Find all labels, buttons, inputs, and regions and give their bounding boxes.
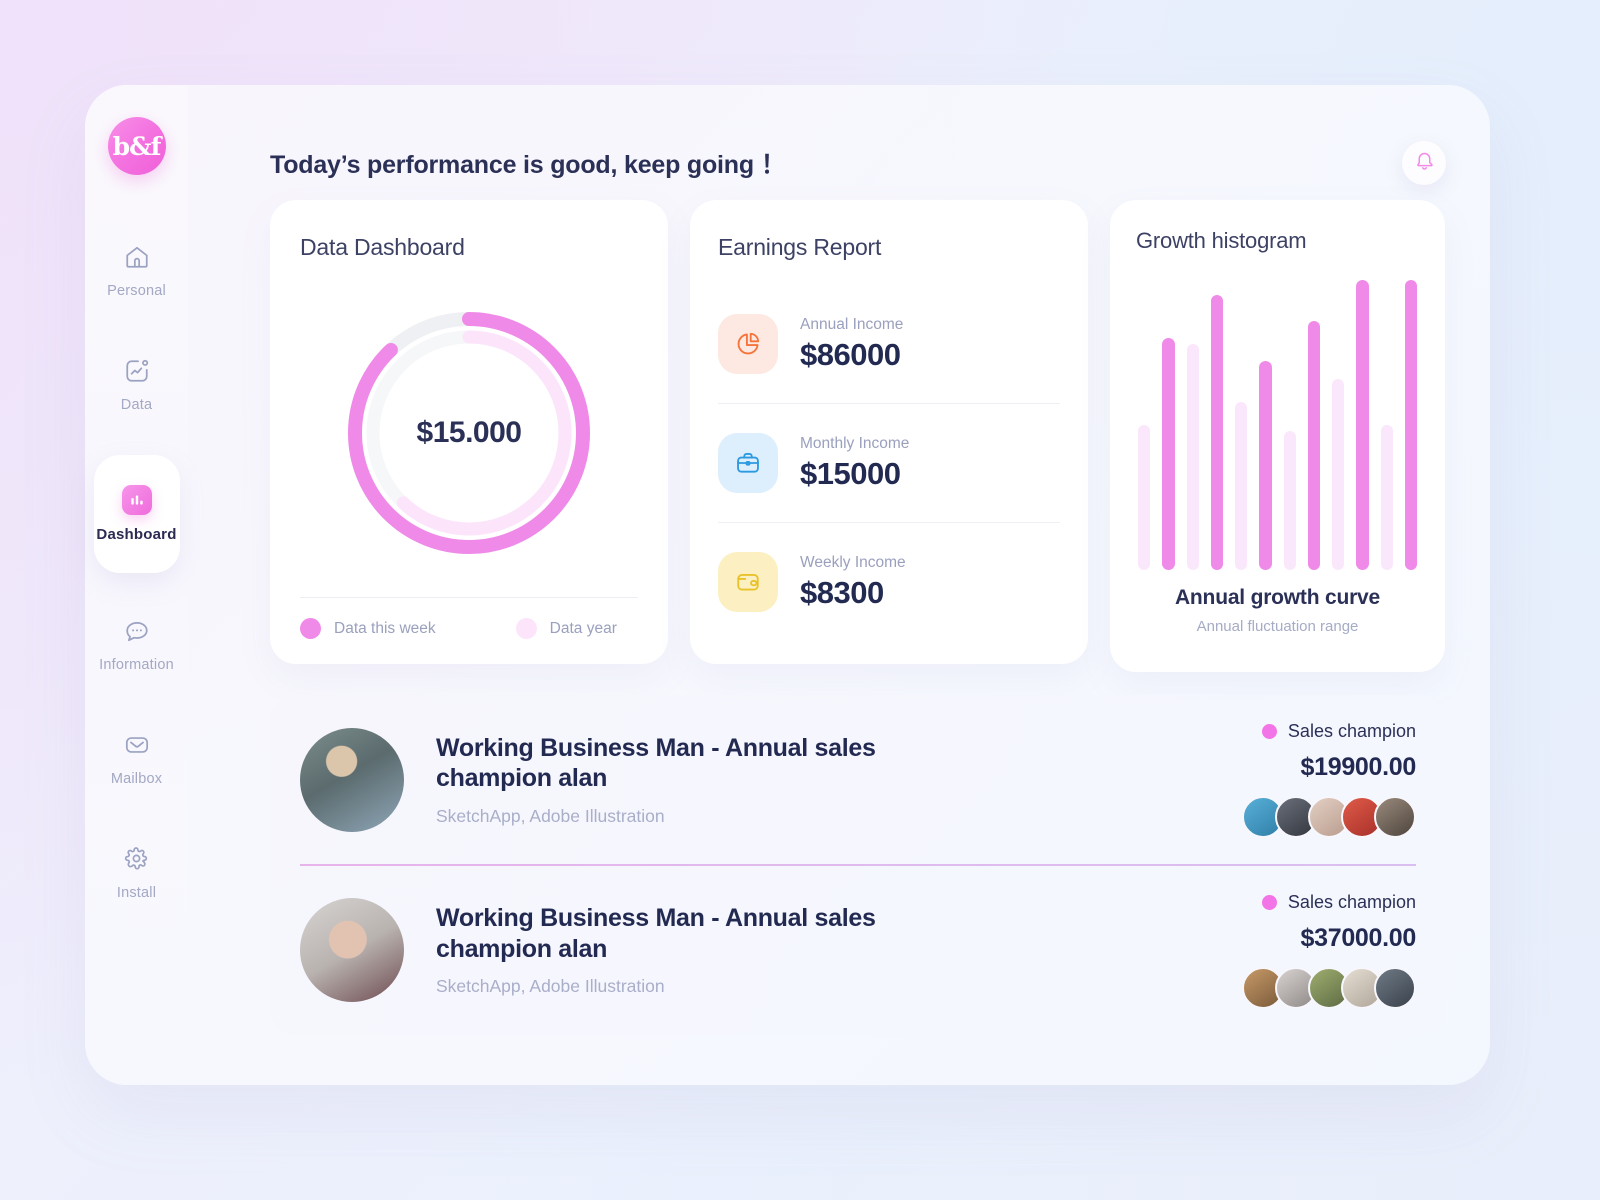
sidebar-item-data[interactable]: Data [94, 341, 180, 427]
sales-list-card: Working Business Man - Annual sales cham… [270, 695, 1446, 1035]
avatar-stack[interactable] [1242, 967, 1416, 1009]
histogram-bar [1259, 361, 1271, 570]
status-dot-icon [1262, 895, 1277, 910]
earnings-label: Annual Income [800, 316, 903, 334]
sidebar-item-label: Dashboard [96, 526, 176, 543]
histogram-bar [1138, 425, 1150, 570]
status-label: Sales champion [1288, 721, 1416, 742]
avatar [300, 728, 404, 832]
earnings-label: Weekly Income [800, 554, 906, 572]
avatar [1374, 796, 1416, 838]
card-title: Earnings Report [718, 234, 1060, 261]
sidebar-item-label: Data [121, 397, 152, 413]
status-label: Sales champion [1288, 892, 1416, 913]
sidebar-item-label: Personal [107, 283, 166, 299]
legend-item: Data year [516, 618, 617, 639]
row-metrics: Sales champion $37000.00 [1242, 892, 1416, 1009]
legend-label: Data this week [334, 620, 436, 638]
envelope-icon [124, 730, 150, 760]
growth-histogram-card: Growth histogram Annual growth curve Ann… [1110, 200, 1445, 672]
histogram-bar [1381, 425, 1393, 570]
histogram-bar [1235, 402, 1247, 570]
row-title: Working Business Man - Annual sales cham… [436, 733, 936, 794]
row-metrics: Sales champion $19900.00 [1242, 721, 1416, 838]
earnings-value: $86000 [800, 337, 903, 373]
sidebar-item-install[interactable]: Install [94, 829, 180, 915]
pie-chart-icon [718, 314, 778, 374]
sidebar-item-dashboard[interactable]: Dashboard [94, 455, 180, 573]
histogram-bar [1332, 379, 1344, 570]
earnings-row-weekly: Weekly Income $8300 [718, 523, 1060, 641]
earnings-value: $15000 [800, 456, 909, 492]
wallet-icon [718, 552, 778, 612]
histogram-bar [1187, 344, 1199, 570]
notification-button[interactable] [1402, 141, 1446, 185]
sidebar-item-label: Information [99, 657, 174, 673]
card-title: Data Dashboard [300, 234, 638, 261]
donut-center-value: $15.000 [343, 307, 595, 559]
row-title: Working Business Man - Annual sales cham… [436, 903, 936, 964]
chat-bubble-icon [124, 616, 150, 646]
histogram-bar [1211, 295, 1223, 571]
growth-footer: Annual growth curve Annual fluctuation r… [1136, 586, 1419, 635]
cards-row: Data Dashboard $15.000 [270, 200, 1446, 672]
analytics-icon [124, 356, 150, 386]
histogram-bars [1136, 280, 1419, 570]
earnings-label: Monthly Income [800, 435, 909, 453]
chart-legend: Data this week Data year [300, 618, 638, 639]
sidebar-item-label: Install [117, 885, 156, 901]
histogram-bar [1356, 280, 1368, 570]
table-row[interactable]: Working Business Man - Annual sales cham… [300, 695, 1416, 864]
app-shell: b&f Personal [85, 85, 1490, 1085]
data-dashboard-card: Data Dashboard $15.000 [270, 200, 668, 664]
earnings-report-card: Earnings Report Annual Income $86000 [690, 200, 1088, 664]
row-amount: $19900.00 [1301, 753, 1416, 782]
row-amount: $37000.00 [1301, 924, 1416, 953]
page-title: Today’s performance is good, keep going … [270, 145, 786, 181]
sidebar-item-mailbox[interactable]: Mailbox [94, 715, 180, 801]
histogram-bar [1405, 280, 1417, 570]
sidebar-item-information[interactable]: Information [94, 601, 180, 687]
sidebar-item-label: Mailbox [111, 771, 162, 787]
status-badge: Sales champion [1262, 892, 1416, 913]
legend-dot-icon [300, 618, 321, 639]
legend-label: Data year [550, 620, 617, 638]
avatar [300, 898, 404, 1002]
row-subtitle: SketchApp, Adobe Illustration [436, 976, 1242, 997]
histogram-bar [1284, 431, 1296, 570]
row-subtitle: SketchApp, Adobe Illustration [436, 806, 1242, 827]
status-dot-icon [1262, 724, 1277, 739]
bell-icon [1414, 150, 1435, 176]
gear-icon [124, 844, 149, 874]
row-text: Working Business Man - Annual sales cham… [436, 733, 1242, 827]
status-badge: Sales champion [1262, 721, 1416, 742]
histogram-bar [1162, 338, 1174, 570]
earnings-row-monthly: Monthly Income $15000 [718, 404, 1060, 522]
sidebar-nav: Personal Data [85, 219, 188, 943]
bar-chart-icon [122, 485, 152, 515]
earnings-value: $8300 [800, 575, 906, 611]
growth-footer-title: Annual growth curve [1136, 586, 1419, 610]
legend-item: Data this week [300, 618, 436, 639]
avatar [1374, 967, 1416, 1009]
growth-footer-subtitle: Annual fluctuation range [1136, 618, 1419, 635]
table-row[interactable]: Working Business Man - Annual sales cham… [300, 866, 1416, 1035]
sidebar: b&f Personal [85, 85, 188, 1085]
page-header: Today’s performance is good, keep going … [270, 133, 1446, 193]
divider [300, 597, 638, 598]
legend-dot-icon [516, 618, 537, 639]
histogram-bar [1308, 321, 1320, 570]
row-text: Working Business Man - Annual sales cham… [436, 903, 1242, 997]
donut-chart: $15.000 [300, 283, 638, 583]
briefcase-icon [718, 433, 778, 493]
avatar-stack[interactable] [1242, 796, 1416, 838]
home-icon [124, 242, 150, 272]
sidebar-item-personal[interactable]: Personal [94, 227, 180, 313]
card-title: Growth histogram [1136, 228, 1419, 254]
earnings-row-annual: Annual Income $86000 [718, 285, 1060, 403]
divider [300, 864, 1416, 866]
app-logo[interactable]: b&f [108, 117, 166, 175]
